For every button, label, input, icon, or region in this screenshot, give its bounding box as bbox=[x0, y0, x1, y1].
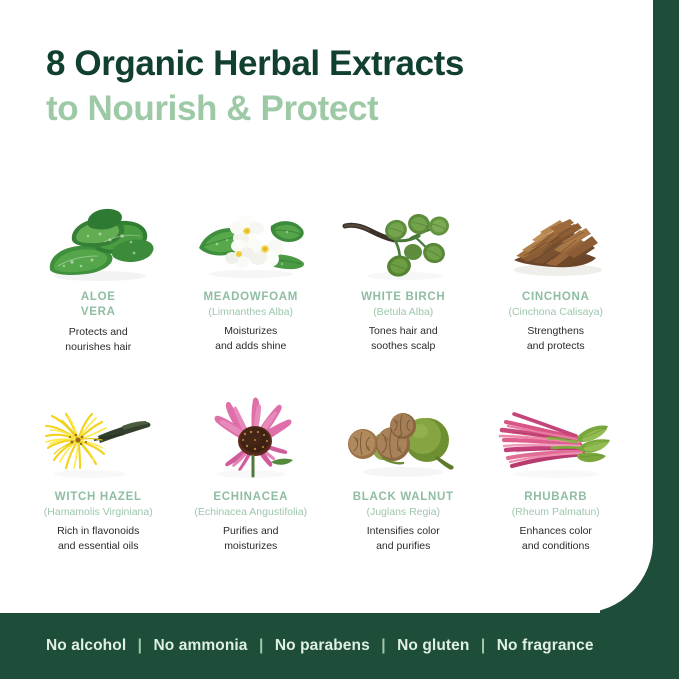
meadowfoam-icon bbox=[187, 196, 315, 284]
ingredient-name: WITCH HAZEL bbox=[55, 490, 142, 505]
claim-no-ammonia: No ammonia bbox=[154, 637, 248, 654]
ingredient-card-white-birch: WHITE BIRCH (Betula Alba) Tones hair and… bbox=[327, 196, 480, 396]
ingredient-description: Rich in flavonoids and essential oils bbox=[57, 524, 139, 554]
ingredient-card-cinchona: CINCHONA (Cinchona Calisaya) Strengthens… bbox=[480, 196, 633, 396]
claim-separator: | bbox=[252, 637, 270, 654]
ingredient-name: ECHINACEA bbox=[213, 490, 288, 505]
claim-no-parabens: No parabens bbox=[275, 637, 370, 654]
claims-footer: No alcohol | No ammonia | No parabens | … bbox=[0, 613, 679, 679]
echinacea-icon bbox=[187, 396, 315, 484]
ingredient-scientific-name: (Hamamolis Virginiana) bbox=[44, 506, 153, 520]
rhubarb-icon bbox=[492, 396, 620, 484]
ingredient-description: Intensifies color and purifies bbox=[367, 524, 440, 554]
page-title: 8 Organic Herbal Extracts bbox=[46, 44, 464, 83]
ingredient-scientific-name: (Cinchona Calisaya) bbox=[508, 306, 603, 320]
ingredient-card-rhubarb: RHUBARB (Rheum Palmatun) Enhances color … bbox=[480, 396, 633, 596]
claim-separator: | bbox=[374, 637, 392, 654]
white-birch-icon bbox=[339, 196, 467, 284]
aloe-vera-icon bbox=[34, 196, 162, 284]
cinchona-bark-icon bbox=[492, 196, 620, 284]
ingredient-card-meadowfoam: MEADOWFOAM (Limnanthes Alba) Moisturizes… bbox=[175, 196, 328, 396]
ingredient-grid: ALOE VERA Protects and nourishes hair bbox=[22, 196, 632, 596]
claim-no-alcohol: No alcohol bbox=[46, 637, 126, 654]
ingredient-description: Tones hair and soothes scalp bbox=[369, 324, 438, 354]
ingredient-name: ALOE VERA bbox=[81, 290, 116, 319]
claim-separator: | bbox=[131, 637, 149, 654]
ingredient-name: MEADOWFOAM bbox=[203, 290, 298, 305]
ingredient-name: CINCHONA bbox=[522, 290, 590, 305]
ingredient-description: Purifies and moisturizes bbox=[223, 524, 278, 554]
ingredient-card-black-walnut: BLACK WALNUT (Juglans Regia) Intensifies… bbox=[327, 396, 480, 596]
ingredient-card-echinacea: ECHINACEA (Echinacea Angustifolia) Purif… bbox=[175, 396, 328, 596]
claim-separator: | bbox=[474, 637, 492, 654]
ingredient-description: Moisturizes and adds shine bbox=[215, 324, 286, 354]
ingredient-name: WHITE BIRCH bbox=[361, 290, 445, 305]
ingredient-description: Enhances color and conditions bbox=[520, 524, 592, 554]
ingredient-scientific-name: (Juglans Regia) bbox=[366, 506, 440, 520]
witch-hazel-icon bbox=[34, 396, 162, 484]
claims-list: No alcohol | No ammonia | No parabens | … bbox=[46, 637, 594, 655]
ingredient-description: Protects and nourishes hair bbox=[65, 325, 131, 355]
ingredient-name: BLACK WALNUT bbox=[353, 490, 454, 505]
ingredient-description: Strengthens and protects bbox=[527, 324, 585, 354]
ingredient-card-witch-hazel: WITCH HAZEL (Hamamolis Virginiana) Rich … bbox=[22, 396, 175, 596]
ingredient-name: RHUBARB bbox=[524, 490, 587, 505]
page-subtitle: to Nourish & Protect bbox=[46, 89, 464, 128]
ingredient-scientific-name: (Betula Alba) bbox=[373, 306, 433, 320]
claim-no-gluten: No gluten bbox=[397, 637, 469, 654]
ingredient-scientific-name: (Echinacea Angustifolia) bbox=[194, 506, 307, 520]
ingredient-card-aloe-vera: ALOE VERA Protects and nourishes hair bbox=[22, 196, 175, 396]
claim-no-fragrance: No fragrance bbox=[497, 637, 594, 654]
header-block: 8 Organic Herbal Extracts to Nourish & P… bbox=[46, 44, 464, 128]
ingredient-scientific-name: (Rheum Palmatun) bbox=[512, 506, 600, 520]
black-walnut-icon bbox=[339, 396, 467, 484]
ingredient-scientific-name: (Limnanthes Alba) bbox=[208, 306, 293, 320]
